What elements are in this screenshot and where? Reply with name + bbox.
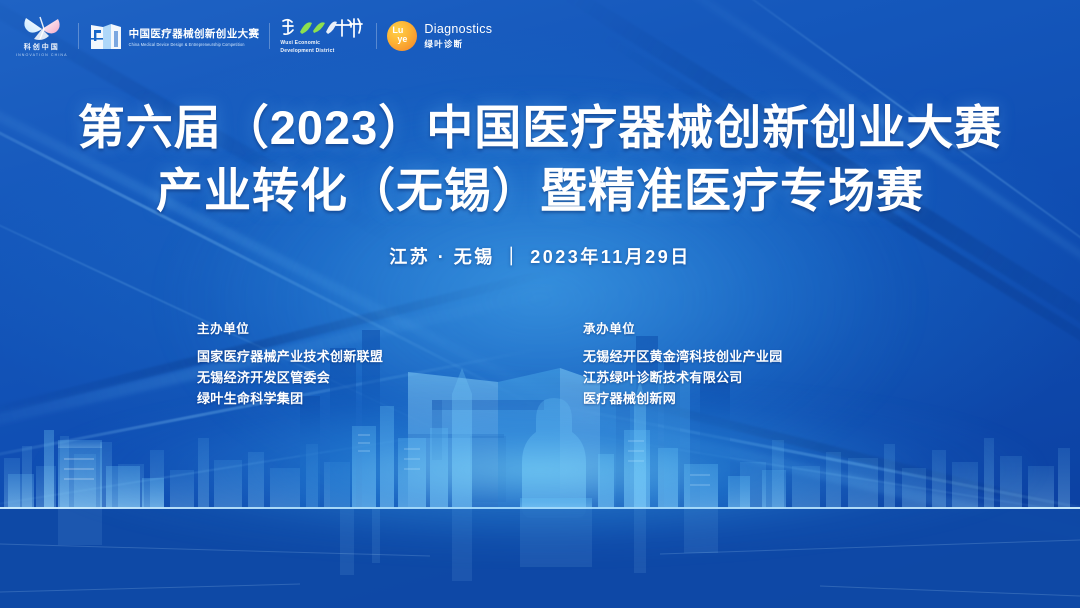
host-heading: 主办单位 (197, 318, 497, 337)
coorganizer-heading: 承办单位 (583, 318, 883, 337)
organizer-column-host: 主办单位 国家医疗器械产业技术创新联盟 无锡经济开发区管委会 绿叶生命科学集团 (197, 318, 497, 409)
logo-divider (269, 23, 270, 49)
title-line-1: 第六届（2023）中国医疗器械创新创业大赛 (0, 96, 1080, 159)
event-location-date: 江苏 · 无锡 ｜ 2023年11月29日 (0, 243, 1080, 269)
competition-gate-icon (89, 21, 123, 51)
logo-china-medical-device-competition: 中国医疗器械创新创业大赛 China Medical Device Design… (89, 13, 260, 59)
competition-cn-label: 中国医疗器械创新创业大赛 (129, 26, 260, 41)
poster-title-block: 第六届（2023）中国医疗器械创新创业大赛 产业转化（无锡）暨精准医疗专场赛 江… (0, 96, 1080, 269)
logo-divider (376, 23, 377, 49)
coorganizer-item: 医疗器械创新网 (583, 388, 883, 409)
innovation-china-mark-icon (20, 15, 64, 41)
innovation-china-en-label: INNOVATION CHINA (16, 53, 68, 57)
wuxi-calligraphy-icon (280, 18, 366, 38)
luye-cn-label: 绿叶诊断 (424, 38, 492, 50)
luye-en-label: Diagnostics (424, 22, 492, 36)
logo-luye-diagnostics: Lu ye Diagnostics 绿叶诊断 (387, 13, 492, 59)
wuxi-en-line2: Development District (280, 48, 334, 55)
host-item: 国家医疗器械产业技术创新联盟 (197, 346, 497, 367)
wuxi-en-line1: Wuxi Economic (280, 40, 320, 47)
sponsor-logo-bar: 科创中国 INNOVATION CHINA 中国医疗器械创新创业大赛 China… (0, 0, 1080, 72)
event-poster: 科创中国 INNOVATION CHINA 中国医疗器械创新创业大赛 China… (0, 0, 1080, 608)
luye-badge-line2: ye (397, 35, 407, 44)
coorganizer-item: 无锡经开区黄金湾科技创业产业园 (583, 346, 883, 367)
organizer-column-coorganizer: 承办单位 无锡经开区黄金湾科技创业产业园 江苏绿叶诊断技术有限公司 医疗器械创新… (583, 318, 883, 409)
title-line-2: 产业转化（无锡）暨精准医疗专场赛 (0, 159, 1080, 222)
competition-en-label: China Medical Device Design & Entreprene… (129, 41, 260, 46)
innovation-china-cn-label: 科创中国 (24, 42, 60, 52)
logo-wuxi-economic-development-district: Wuxi Economic Development District (280, 13, 366, 59)
host-item: 无锡经济开发区管委会 (197, 367, 497, 388)
logo-divider (78, 23, 79, 49)
logo-innovation-china: 科创中国 INNOVATION CHINA (16, 13, 68, 59)
coorganizer-item: 江苏绿叶诊断技术有限公司 (583, 367, 883, 388)
organizer-block: 主办单位 国家医疗器械产业技术创新联盟 无锡经济开发区管委会 绿叶生命科学集团 … (0, 318, 1080, 409)
host-item: 绿叶生命科学集团 (197, 388, 497, 409)
luye-badge-icon: Lu ye (387, 21, 417, 51)
